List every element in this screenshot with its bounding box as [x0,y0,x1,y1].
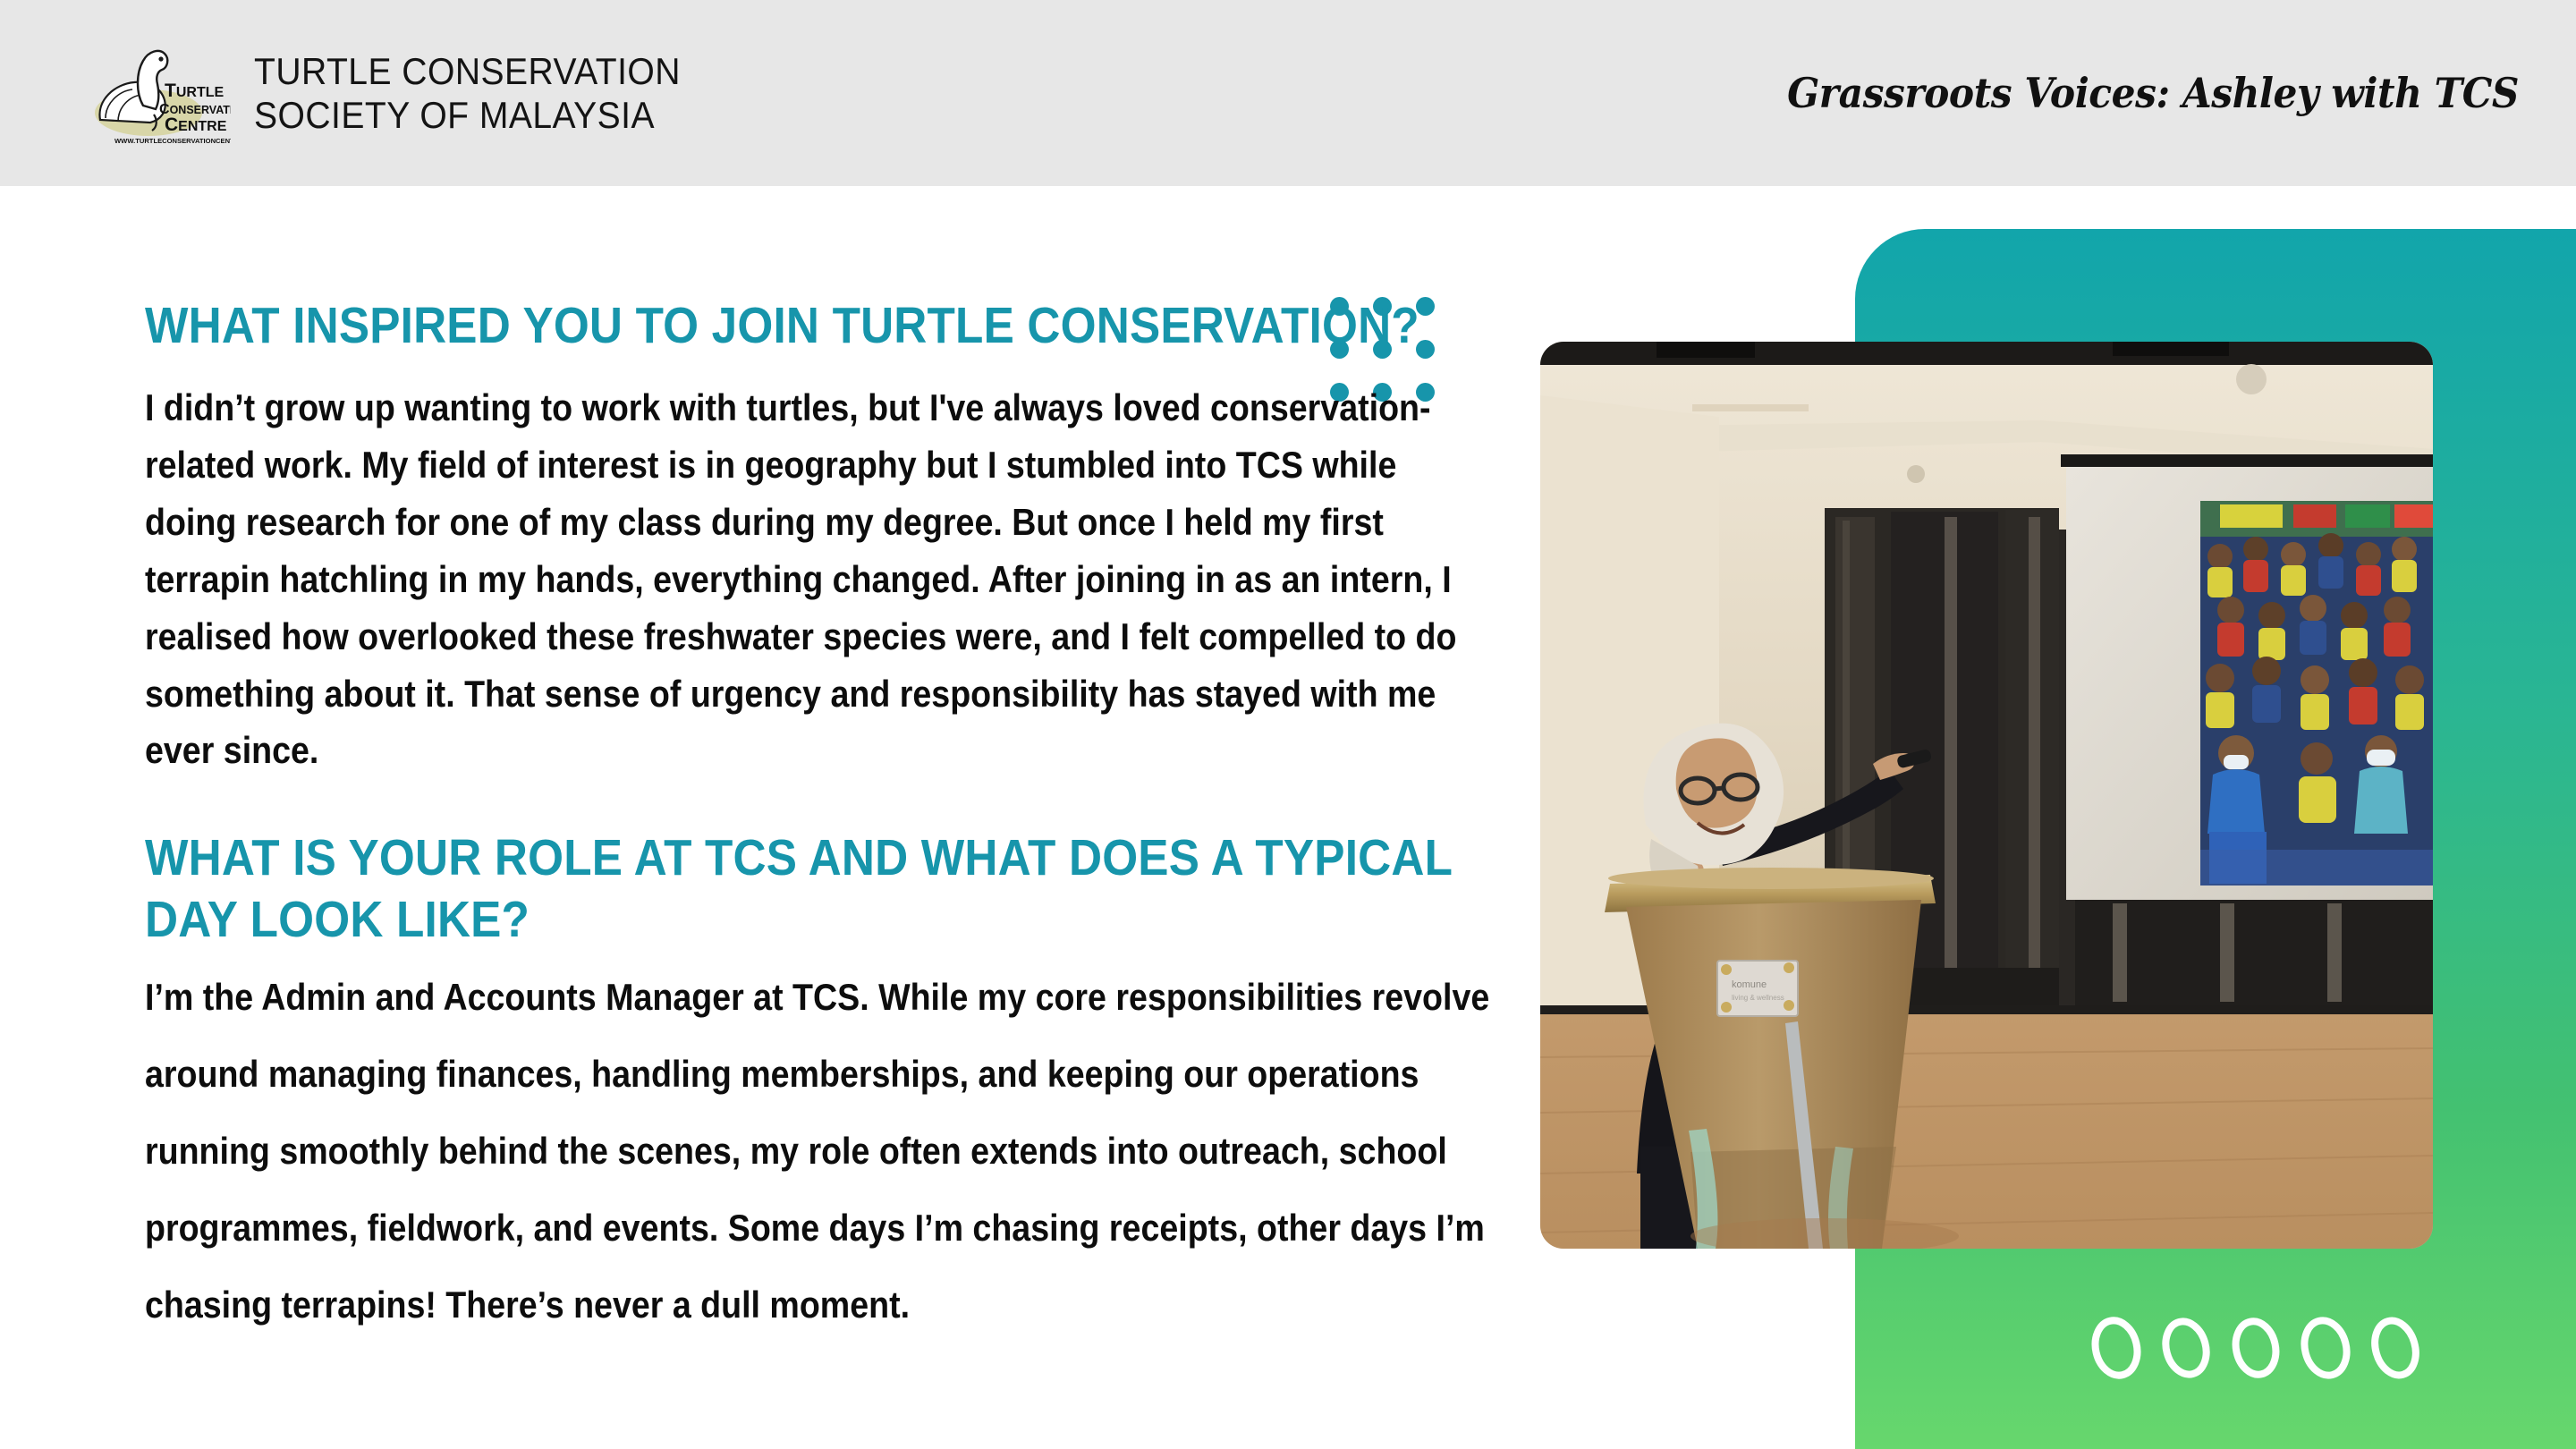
circle-icon [2157,1313,2215,1383]
question-one-heading: WHAT INSPIRED YOU TO JOIN TURTLE CONSERV… [145,295,1481,356]
question-two-heading: WHAT IS YOUR ROLE AT TCS AND WHAT DOES A… [145,827,1481,950]
page-title: Grassroots Voices: Ashley with TCS [1787,69,2519,117]
circle-icon [2088,1313,2145,1383]
circle-icon [2367,1313,2424,1383]
brand-block: TURTLE CONSERVATION CENTRE WWW.TURTLECON… [79,38,713,148]
circle-icon [2227,1313,2284,1383]
svg-text:komune: komune [1732,979,1767,990]
circle-icon [2297,1313,2354,1383]
speaker-at-podium-photo: komune living & wellness [1540,342,2433,1249]
turtle-logo: TURTLE CONSERVATION CENTRE WWW.TURTLECON… [79,38,231,148]
svg-text:living & wellness: living & wellness [1732,994,1784,1002]
svg-text:WWW.TURTLECONSERVATIONCENTRE.O: WWW.TURTLECONSERVATIONCENTRE.ORG [114,137,231,145]
interview-content: WHAT INSPIRED YOU TO JOIN TURTLE CONSERV… [145,295,1487,1343]
svg-text:TURTLE: TURTLE [165,80,224,101]
hand-drawn-circles [2088,1313,2424,1383]
organization-name: TURTLE CONSERVATION SOCIETY OF MALAYSIA [254,49,681,137]
answer-one-text: I didn’t grow up wanting to work with tu… [145,379,1490,779]
answer-two-text: I’m the Admin and Accounts Manager at TC… [145,959,1490,1343]
header-bar: TURTLE CONSERVATION CENTRE WWW.TURTLECON… [0,0,2576,186]
